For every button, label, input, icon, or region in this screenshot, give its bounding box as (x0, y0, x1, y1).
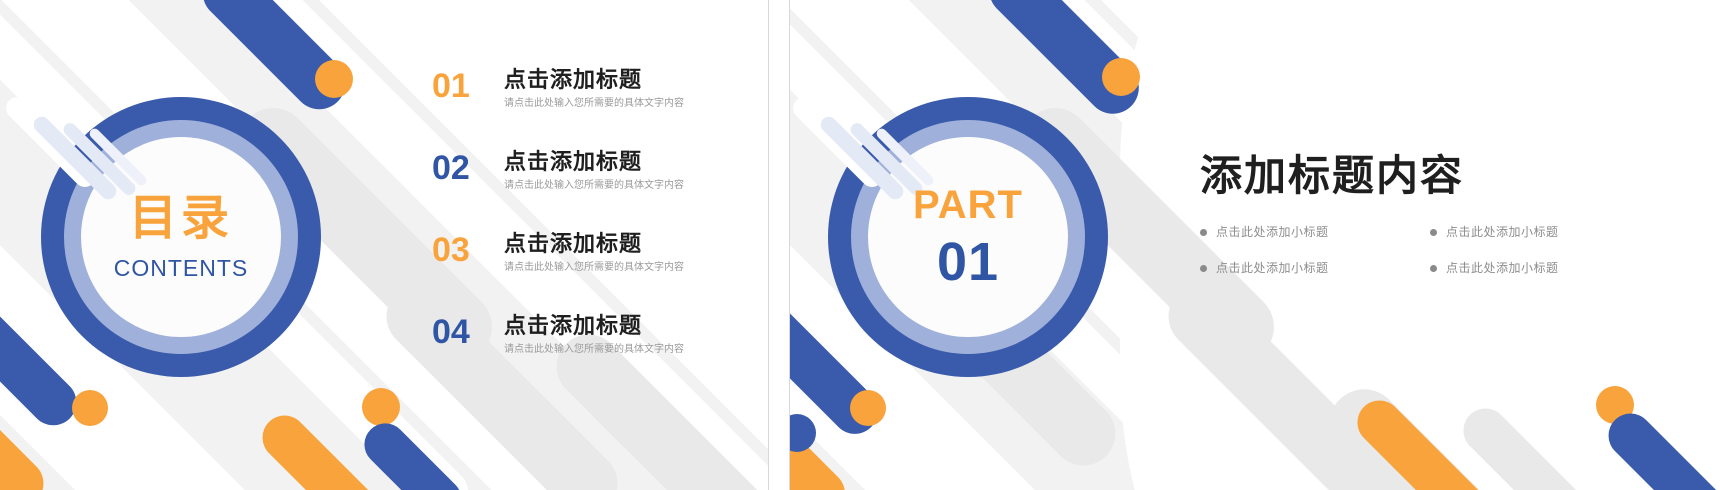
section-part-label: PART (913, 185, 1023, 225)
decor-orange-dot-topright (1102, 58, 1140, 96)
list-item-label: 点击此处添加小标题 (1216, 224, 1329, 240)
contents-item-title: 点击添加标题 (504, 148, 732, 176)
decor-orange-dot-bottomright (362, 388, 400, 426)
contents-item-title: 点击添加标题 (504, 230, 732, 258)
contents-item[interactable]: 04 点击添加标题 请点击此处输入您所需要的具体文字内容 (432, 312, 732, 372)
contents-item-subtitle: 请点击此处输入您所需要的具体文字内容 (504, 342, 732, 358)
list-item[interactable]: 点击此处添加小标题 (1200, 260, 1430, 276)
list-item[interactable]: 点击此处添加小标题 (1430, 260, 1660, 276)
contents-list: 01 点击添加标题 请点击此处输入您所需要的具体文字内容 02 点击添加标题 请… (432, 66, 732, 394)
contents-cjk-label: 目录 (129, 195, 233, 243)
decor-orange-dot-bottom (850, 390, 886, 426)
contents-ring-badge: 目录 CONTENTS (41, 97, 321, 377)
section-content: 添加标题内容 点击此处添加小标题 点击此处添加小标题 点击此处添加小标题 点击此… (1200, 150, 1670, 296)
contents-item-number: 04 (432, 312, 504, 352)
contents-item-subtitle: 请点击此处输入您所需要的具体文字内容 (504, 96, 732, 112)
list-item-label: 点击此处添加小标题 (1446, 260, 1559, 276)
bullet-dot-icon (1200, 265, 1207, 272)
decor-orange-dot-topright (315, 60, 353, 98)
slide-contents[interactable]: 目录 CONTENTS 01 点击添加标题 请点击此处输入您所需要的具体文字内容… (0, 0, 768, 490)
contents-item[interactable]: 03 点击添加标题 请点击此处输入您所需要的具体文字内容 (432, 230, 732, 290)
contents-item[interactable]: 01 点击添加标题 请点击此处输入您所需要的具体文字内容 (432, 66, 732, 126)
page-title: 添加标题内容 (1200, 150, 1670, 202)
contents-item-title: 点击添加标题 (504, 66, 732, 94)
bullet-dot-icon (1430, 265, 1437, 272)
slide-section-header[interactable]: PART 01 添加标题内容 点击此处添加小标题 点击此处添加小标题 点击此处添… (790, 0, 1720, 490)
contents-item-subtitle: 请点击此处输入您所需要的具体文字内容 (504, 260, 732, 276)
ring-label-group: 目录 CONTENTS (41, 97, 321, 377)
contents-item-number: 01 (432, 66, 504, 106)
section-bullet-list: 点击此处添加小标题 点击此处添加小标题 点击此处添加小标题 点击此处添加小标题 (1200, 224, 1660, 296)
contents-item-title: 点击添加标题 (504, 312, 732, 340)
bullet-dot-icon (1200, 229, 1207, 236)
slide-divider (768, 0, 790, 490)
bullet-dot-icon (1430, 229, 1437, 236)
contents-item-number: 03 (432, 230, 504, 270)
contents-item-number: 02 (432, 148, 504, 188)
contents-en-label: CONTENTS (114, 257, 249, 280)
list-item[interactable]: 点击此处添加小标题 (1430, 224, 1660, 240)
section-part-number: 01 (937, 235, 999, 289)
list-item-label: 点击此处添加小标题 (1446, 224, 1559, 240)
contents-item-subtitle: 请点击此处输入您所需要的具体文字内容 (504, 178, 732, 194)
ring-label-group: PART 01 (828, 97, 1108, 377)
slide-thumbnail-strip: 目录 CONTENTS 01 点击添加标题 请点击此处输入您所需要的具体文字内容… (0, 0, 1720, 490)
list-item[interactable]: 点击此处添加小标题 (1200, 224, 1430, 240)
list-item-label: 点击此处添加小标题 (1216, 260, 1329, 276)
section-ring-badge: PART 01 (828, 97, 1108, 377)
contents-item[interactable]: 02 点击添加标题 请点击此处输入您所需要的具体文字内容 (432, 148, 732, 208)
decor-orange-dot-bottom (72, 390, 108, 426)
